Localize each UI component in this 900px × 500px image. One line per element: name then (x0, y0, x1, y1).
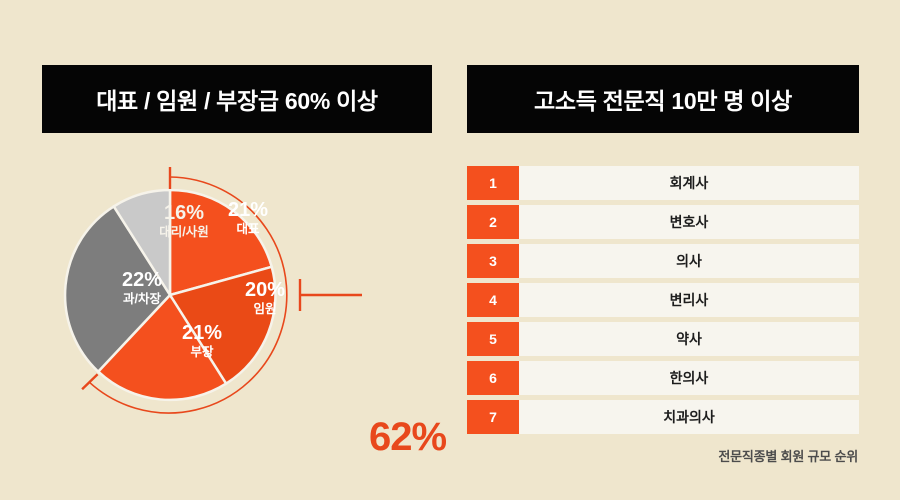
table-row[interactable]: 5 약사 (467, 322, 859, 356)
rank-name: 치과의사 (519, 400, 859, 434)
table-row[interactable]: 7 치과의사 (467, 400, 859, 434)
rank-badge: 7 (467, 400, 519, 434)
rank-badge: 5 (467, 322, 519, 356)
left-panel-header-text: 대표 / 임원 / 부장급 60% 이상 (96, 82, 378, 116)
table-row[interactable]: 4 변리사 (467, 283, 859, 317)
list-caption: 전문직종별 회원 규모 순위 (718, 446, 858, 465)
rank-badge: 4 (467, 283, 519, 317)
rank-badge: 1 (467, 166, 519, 200)
table-row[interactable]: 2 변호사 (467, 205, 859, 239)
rank-name: 변호사 (519, 205, 859, 239)
infographic-canvas: 대표 / 임원 / 부장급 60% 이상 고소득 전문직 10만 명 이상 (0, 0, 900, 500)
rank-name: 한의사 (519, 361, 859, 395)
pie-callout-total: 62% (369, 417, 446, 457)
table-row[interactable]: 3 의사 (467, 244, 859, 278)
pie-chart: 21% 대표 20% 임원 21% 부장 22% 과/차장 16% 대리/사원 … (42, 145, 442, 425)
left-panel-header: 대표 / 임원 / 부장급 60% 이상 (42, 65, 432, 133)
pie-chart-svg (42, 145, 442, 425)
rank-badge: 6 (467, 361, 519, 395)
rank-name: 의사 (519, 244, 859, 278)
rank-badge: 2 (467, 205, 519, 239)
table-row[interactable]: 1 회계사 (467, 166, 859, 200)
right-panel-header-text: 고소득 전문직 10만 명 이상 (534, 82, 792, 116)
rank-name: 변리사 (519, 283, 859, 317)
rank-name: 약사 (519, 322, 859, 356)
table-row[interactable]: 6 한의사 (467, 361, 859, 395)
rank-badge: 3 (467, 244, 519, 278)
rank-name: 회계사 (519, 166, 859, 200)
right-panel-header: 고소득 전문직 10만 명 이상 (467, 65, 859, 133)
profession-rank-list: 1 회계사 2 변호사 3 의사 4 변리사 5 약사 6 한의사 7 치과의사 (467, 166, 859, 439)
